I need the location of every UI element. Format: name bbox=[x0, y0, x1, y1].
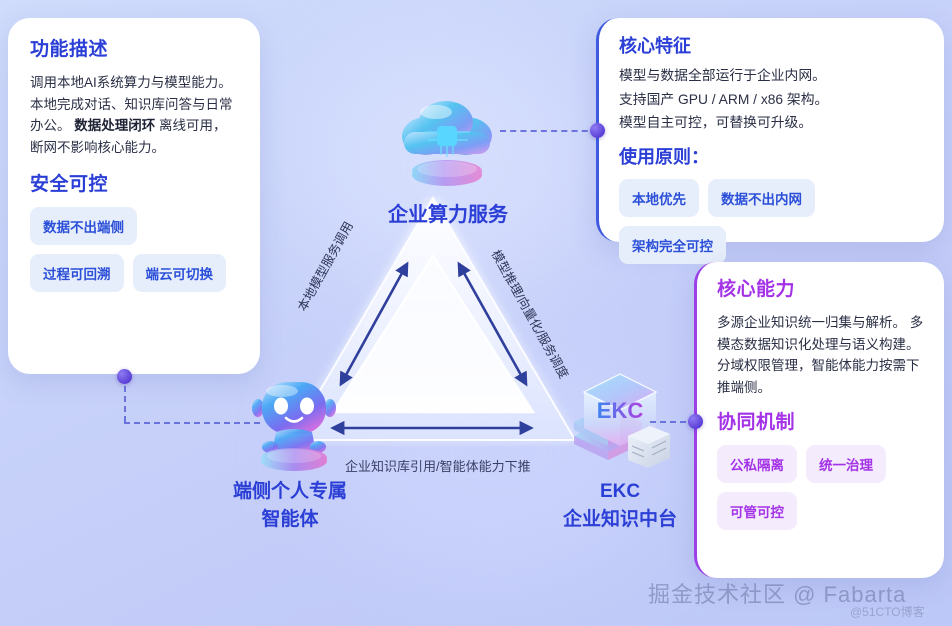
core-tag-group: 本地优先 数据不出内网 架构完全可控 bbox=[619, 179, 922, 264]
connector-dot-ability bbox=[688, 414, 703, 429]
cloud-chip-icon bbox=[392, 88, 502, 193]
diagram-canvas: EKC 企业算力服务 端侧个人专属 智能体 EKC 企业知识中台 本地模型服务调… bbox=[0, 0, 952, 626]
tag-public-private-isolation[interactable]: 公私隔离 bbox=[717, 445, 797, 483]
tag-local-first[interactable]: 本地优先 bbox=[619, 179, 699, 217]
ekc-cube-icon: EKC bbox=[562, 362, 674, 472]
core-line-3: 模型自主可控，可替换可升级。 bbox=[619, 111, 922, 135]
core-line-1: 模型与数据全部运行于企业内网。 bbox=[619, 64, 922, 88]
card-ability-body: 多源企业知识统一归集与解析。 多模态数据知识化处理与语义构建。 分域权限管理，智… bbox=[717, 312, 924, 399]
function-line-1: 调用本地AI系统算力与模型能力。 bbox=[30, 75, 232, 90]
card-ability-subtitle: 协同机制 bbox=[717, 411, 924, 435]
function-tag-group: 数据不出端侧 过程可回溯 端云可切换 bbox=[30, 207, 238, 292]
card-core-subtitle: 使用原则： bbox=[619, 143, 922, 169]
tag-data-not-leave-device[interactable]: 数据不出端侧 bbox=[30, 207, 137, 245]
node-label-agent: 端侧个人专属 智能体 bbox=[190, 478, 390, 533]
connector-features-horizontal bbox=[124, 422, 260, 424]
ekc-cube-text: EKC bbox=[597, 398, 644, 423]
core-line-2: 支持国产 GPU / ARM / x86 架构。 bbox=[619, 88, 922, 112]
tag-device-cloud-switchable[interactable]: 端云可切换 bbox=[133, 254, 227, 292]
tag-unified-governance[interactable]: 统一治理 bbox=[806, 445, 886, 483]
connector-core-horizontal bbox=[500, 130, 598, 132]
node-label-ekc: EKC 企业知识中台 bbox=[520, 478, 720, 533]
ability-tag-group: 公私隔离 统一治理 可管可控 bbox=[717, 445, 924, 530]
card-ability-title: 核心能力 bbox=[717, 278, 924, 302]
tag-data-not-leave-intranet[interactable]: 数据不出内网 bbox=[708, 179, 815, 217]
robot-icon bbox=[242, 368, 346, 472]
function-bold-lead: 数据处理闭环 bbox=[74, 118, 155, 133]
tag-architecture-controllable[interactable]: 架构完全可控 bbox=[619, 226, 726, 264]
card-core-title: 核心特征 bbox=[619, 32, 922, 58]
card-core-body: 模型与数据全部运行于企业内网。 支持国产 GPU / ARM / x86 架构。… bbox=[619, 64, 922, 135]
card-core-features: 核心特征 模型与数据全部运行于企业内网。 支持国产 GPU / ARM / x8… bbox=[596, 18, 944, 242]
node-label-agent-line1: 端侧个人专属 bbox=[190, 478, 390, 506]
card-function-subtitle: 安全可控 bbox=[30, 173, 238, 197]
node-label-agent-line2: 智能体 bbox=[190, 506, 390, 534]
card-function-title: 功能描述 bbox=[30, 38, 238, 62]
card-core-ability: 核心能力 多源企业知识统一归集与解析。 多模态数据知识化处理与语义构建。 分域权… bbox=[694, 262, 944, 578]
ability-line-3: 分域权限管理，智能体能力按需下推端侧。 bbox=[717, 358, 920, 395]
node-label-ekc-line1: EKC bbox=[520, 478, 720, 506]
card-function-body: 调用本地AI系统算力与模型能力。 本地完成对话、知识库问答与日常办公。 数据处理… bbox=[30, 72, 238, 159]
node-label-cloud: 企业算力服务 bbox=[338, 198, 558, 227]
connector-dot-features bbox=[117, 369, 132, 384]
edge-label-bottom: 企业知识库引用/智能体能力下推 bbox=[345, 456, 531, 475]
node-label-ekc-line2: 企业知识中台 bbox=[520, 506, 720, 534]
watermark-sub: @51CTO博客 bbox=[850, 603, 925, 620]
tag-process-traceable[interactable]: 过程可回溯 bbox=[30, 254, 124, 292]
ability-line-1: 多源企业知识统一归集与解析。 bbox=[717, 315, 906, 330]
card-function-description: 功能描述 调用本地AI系统算力与模型能力。 本地完成对话、知识库问答与日常办公。… bbox=[8, 18, 260, 374]
tag-manageable-controllable[interactable]: 可管可控 bbox=[717, 492, 797, 530]
connector-dot-core bbox=[590, 123, 605, 138]
